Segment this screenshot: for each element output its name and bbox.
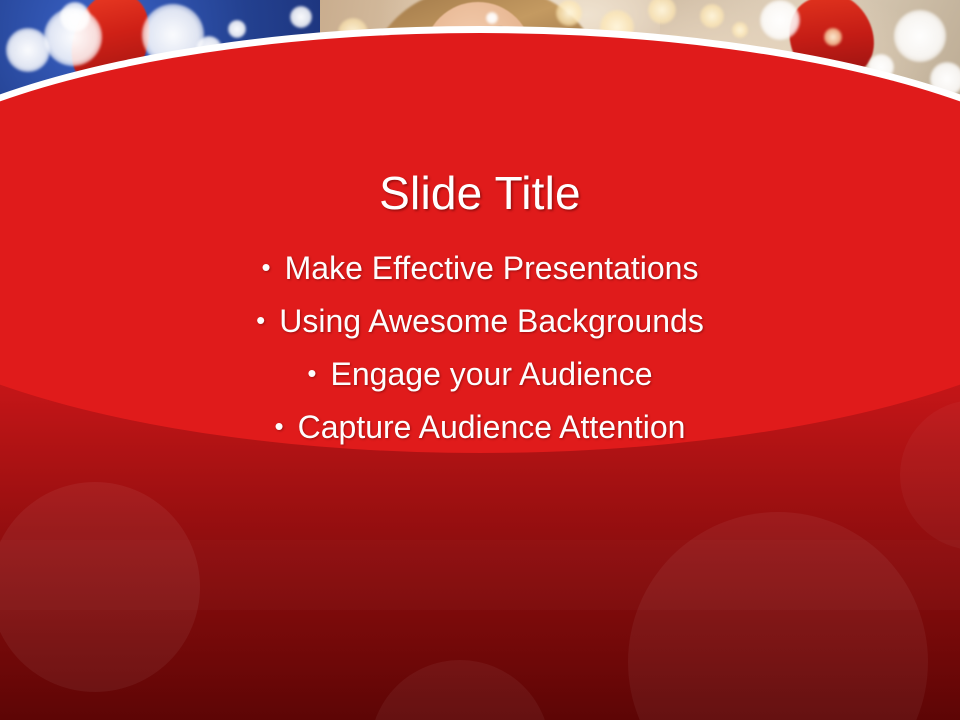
bullet-marker-icon: • <box>262 254 271 280</box>
list-item-label: Using Awesome Backgrounds <box>279 305 704 337</box>
presentation-slide: Slide Title • Make Effective Presentatio… <box>0 0 960 720</box>
list-item-label: Capture Audience Attention <box>298 411 686 443</box>
bullet-marker-icon: • <box>275 413 284 439</box>
bullet-marker-icon: • <box>256 307 265 333</box>
slide-content: Slide Title • Make Effective Presentatio… <box>0 0 960 720</box>
bullet-list: • Make Effective Presentations • Using A… <box>0 252 960 464</box>
list-item-label: Make Effective Presentations <box>285 252 699 284</box>
bullet-marker-icon: • <box>307 360 316 386</box>
list-item[interactable]: • Using Awesome Backgrounds <box>0 305 960 337</box>
list-item[interactable]: • Make Effective Presentations <box>0 252 960 284</box>
list-item[interactable]: • Capture Audience Attention <box>0 411 960 443</box>
slide-title[interactable]: Slide Title <box>0 166 960 220</box>
list-item-label: Engage your Audience <box>331 358 653 390</box>
list-item[interactable]: • Engage your Audience <box>0 358 960 390</box>
